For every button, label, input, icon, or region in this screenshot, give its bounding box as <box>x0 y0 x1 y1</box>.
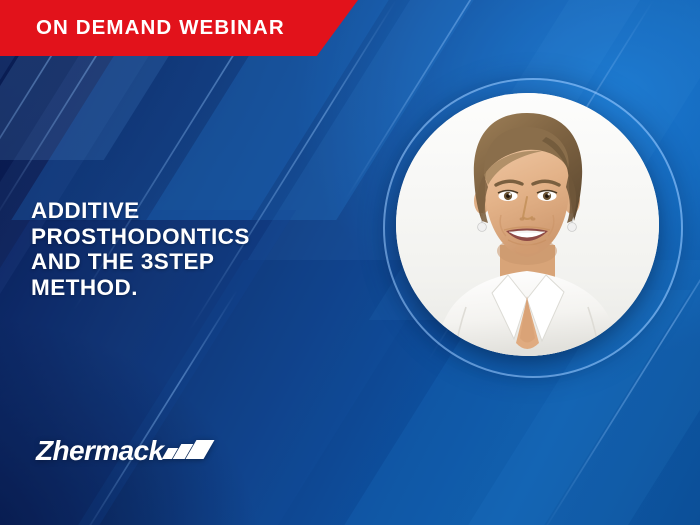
zhermack-slash-mark-icon <box>165 440 209 462</box>
title-line: METHOD. <box>31 275 250 301</box>
zhermack-logo: Zhermack <box>36 437 209 465</box>
speaker-portrait-illustration <box>396 93 659 356</box>
webinar-banner: ON DEMAND WEBINAR ADDITIVE PROSTHODONTIC… <box>0 0 700 525</box>
title-line: PROSTHODONTICS <box>31 224 250 250</box>
page-title: ADDITIVE PROSTHODONTICS AND THE 3STEP ME… <box>31 198 250 300</box>
title-line: AND THE 3STEP <box>31 249 250 275</box>
on-demand-webinar-ribbon: ON DEMAND WEBINAR <box>0 0 358 56</box>
logo-wordmark: Zhermack <box>36 437 164 465</box>
speaker-portrait <box>396 93 659 356</box>
ribbon-label: ON DEMAND WEBINAR <box>36 0 285 56</box>
title-line: ADDITIVE <box>31 198 250 224</box>
